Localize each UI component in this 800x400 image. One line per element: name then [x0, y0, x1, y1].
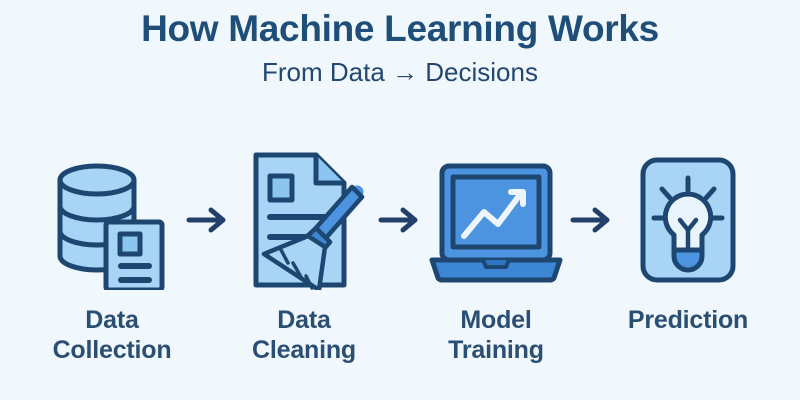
arrow-right-icon	[185, 206, 231, 234]
database-icon	[42, 150, 182, 290]
label-line: Collection	[42, 336, 182, 366]
label-prediction: Prediction	[618, 306, 758, 336]
document-broom-icon	[234, 150, 374, 290]
flow-connector-2	[374, 150, 426, 290]
flow-connector-1	[182, 150, 234, 290]
arrow-right-icon	[569, 206, 615, 234]
label-line: Data	[42, 306, 182, 336]
flow-step-prediction[interactable]	[618, 150, 758, 290]
label-line: Data	[234, 306, 374, 336]
label-line: Model	[426, 306, 566, 336]
page-subtitle: From Data → Decisions	[0, 51, 800, 88]
flow-step-data-cleaning[interactable]	[234, 150, 374, 290]
flow-connector-3	[566, 150, 618, 290]
infographic-canvas: How Machine Learning Works From Data → D…	[0, 0, 800, 400]
label-data-collection: Data Collection	[42, 306, 182, 365]
flow-step-model-training[interactable]	[426, 150, 566, 290]
page-title: How Machine Learning Works	[0, 0, 800, 51]
arrow-right-icon	[377, 206, 423, 234]
label-data-cleaning: Data Cleaning	[234, 306, 374, 365]
flow-step-data-collection[interactable]	[42, 150, 182, 290]
label-line: Prediction	[618, 306, 758, 336]
laptop-chart-icon	[426, 150, 566, 290]
process-flow	[0, 150, 800, 290]
lightbulb-icon	[618, 150, 758, 290]
process-labels: Data Collection Data Cleaning Model Trai…	[0, 306, 800, 396]
label-line: Training	[426, 336, 566, 366]
header: How Machine Learning Works From Data → D…	[0, 0, 800, 88]
label-line: Cleaning	[234, 336, 374, 366]
label-model-training: Model Training	[426, 306, 566, 365]
